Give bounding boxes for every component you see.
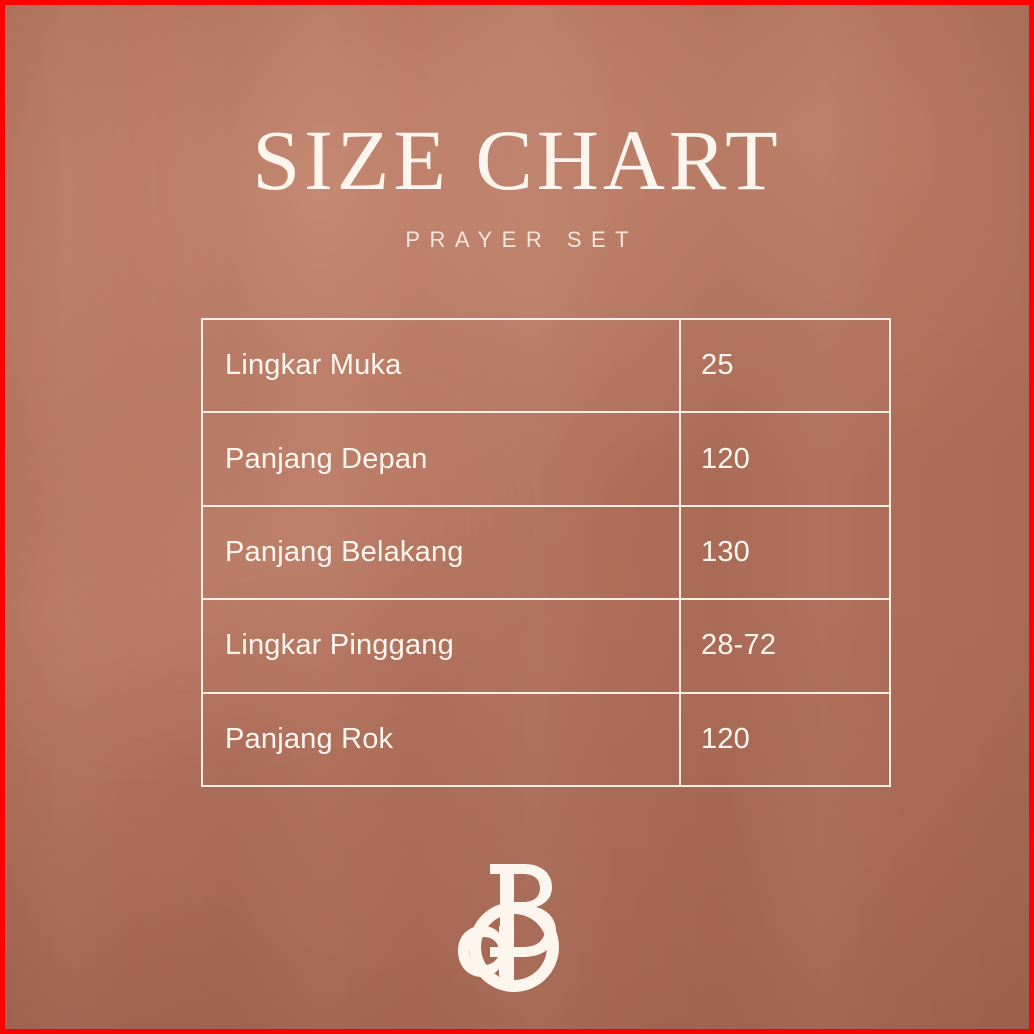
measurement-label: Panjang Rok (202, 693, 680, 786)
size-chart-card: SIZE CHART PRAYER SET Lingkar Muka 25 Pa… (0, 0, 1034, 1034)
brand-monogram-icon (452, 860, 582, 992)
page-title: SIZE CHART (5, 117, 1029, 203)
measurement-label: Panjang Belakang (202, 506, 680, 599)
measurement-value: 120 (680, 693, 890, 786)
size-measurement-table: Lingkar Muka 25 Panjang Depan 120 Panjan… (201, 318, 891, 787)
measurement-value: 120 (680, 412, 890, 505)
table-row: Panjang Belakang 130 (202, 506, 890, 599)
table-row: Panjang Depan 120 (202, 412, 890, 505)
measurement-label: Lingkar Pinggang (202, 599, 680, 692)
title-block: SIZE CHART PRAYER SET (5, 117, 1029, 251)
page-subtitle: PRAYER SET (5, 229, 1029, 251)
table-row: Panjang Rok 120 (202, 693, 890, 786)
measurement-value: 130 (680, 506, 890, 599)
table-row: Lingkar Pinggang 28-72 (202, 599, 890, 692)
card-content: SIZE CHART PRAYER SET Lingkar Muka 25 Pa… (5, 5, 1029, 1029)
measurement-value: 25 (680, 319, 890, 412)
measurement-value: 28-72 (680, 599, 890, 692)
measurement-label: Lingkar Muka (202, 319, 680, 412)
measurement-label: Panjang Depan (202, 412, 680, 505)
table-row: Lingkar Muka 25 (202, 319, 890, 412)
